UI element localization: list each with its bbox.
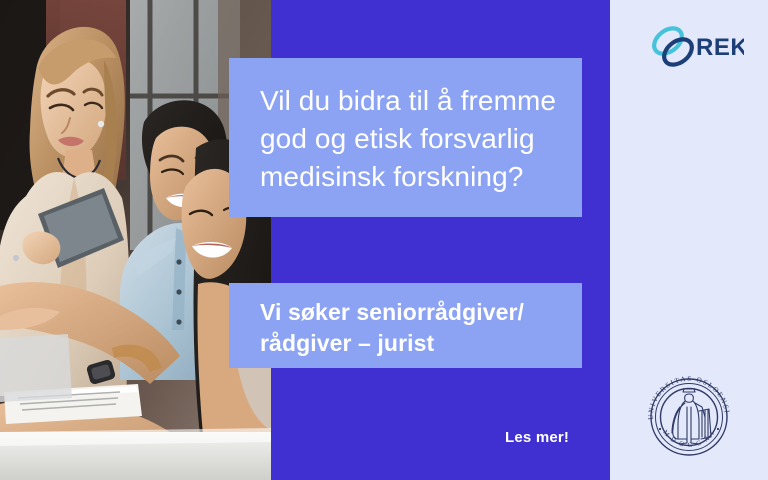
read-more-link[interactable]: Les mer! — [505, 429, 569, 446]
uio-seal: UNIVERSITAS OSLOENSIS M D C C C X I — [639, 367, 739, 467]
rek-wordmark: REK — [696, 34, 744, 61]
job-title-callout-box: Vi søker seniorrådgiver/ rådgiver – juri… — [229, 283, 582, 368]
rek-logo: REK — [648, 24, 744, 70]
headline-line-1: Vil du bidra til å fremme — [260, 82, 554, 120]
headline-line-3: medisinsk forskning? — [260, 158, 554, 196]
job-title-line-1: Vi søker seniorrådgiver/ — [260, 297, 562, 328]
headline-callout-box: Vil du bidra til å fremme god og etisk f… — [229, 58, 582, 217]
recruitment-banner: Vil du bidra til å fremme god og etisk f… — [0, 0, 768, 480]
headline-line-2: god og etisk forsvarlig — [260, 120, 554, 158]
job-title-line-2: rådgiver – jurist — [260, 328, 562, 359]
rek-interlocking-rings-icon: REK — [648, 24, 744, 70]
uio-university-seal-icon: UNIVERSITAS OSLOENSIS M D C C C X I — [639, 367, 739, 467]
